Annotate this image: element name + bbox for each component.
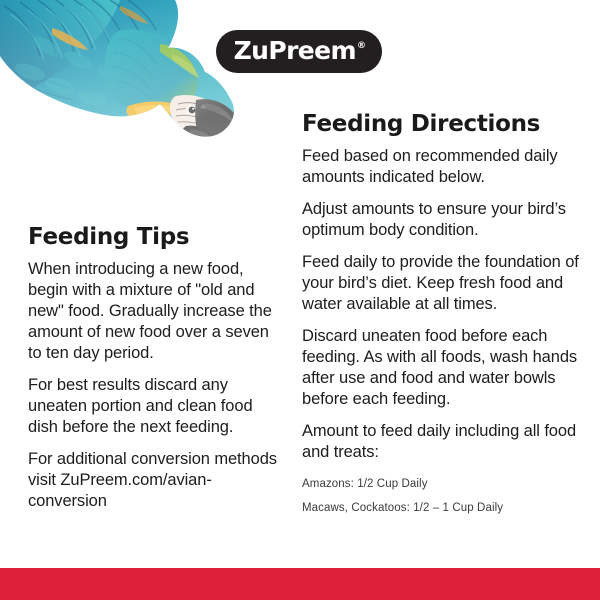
zupreem-logo: ZuPreem® (216, 30, 382, 73)
registered-trademark-icon: ® (357, 41, 365, 51)
feeding-amounts-list: Amazons: 1/2 Cup Daily Macaws, Cockatoos… (302, 477, 584, 515)
feeding-tips-paragraph: For additional conversion methods visit … (28, 449, 286, 512)
macaw-photo (0, 0, 252, 172)
logo-wordmark: ZuPreem® (234, 38, 365, 63)
feeding-directions-paragraph: Discard uneaten food before each feeding… (302, 326, 584, 410)
feeding-amount-item: Macaws, Cockatoos: 1/2 – 1 Cup Daily (302, 501, 584, 515)
macaw-illustration (0, 0, 252, 172)
bottom-accent-bar (0, 568, 600, 600)
logo-text: ZuPreem (234, 36, 356, 65)
feeding-directions-heading: Feeding Directions (302, 112, 584, 137)
feeding-directions-section: Feeding Directions Feed based on recomme… (302, 112, 584, 515)
feeding-directions-paragraph: Adjust amounts to ensure your bird’s opt… (302, 199, 584, 241)
feeding-tips-section: Feeding Tips When introducing a new food… (28, 225, 286, 512)
feeding-directions-paragraph: Feed daily to provide the foundation of … (302, 252, 584, 315)
feeding-tips-heading: Feeding Tips (28, 225, 286, 250)
feeding-amount-item: Amazons: 1/2 Cup Daily (302, 477, 584, 491)
feeding-tips-paragraph: For best results discard any uneaten por… (28, 375, 286, 438)
feeding-directions-paragraph: Feed based on recommended daily amounts … (302, 146, 584, 188)
feeding-tips-paragraph: When introducing a new food, begin with … (28, 259, 286, 364)
product-label-page: ZuPreem® Feeding Tips When introducing a… (0, 0, 600, 600)
feeding-directions-paragraph: Amount to feed daily including all food … (302, 421, 584, 463)
